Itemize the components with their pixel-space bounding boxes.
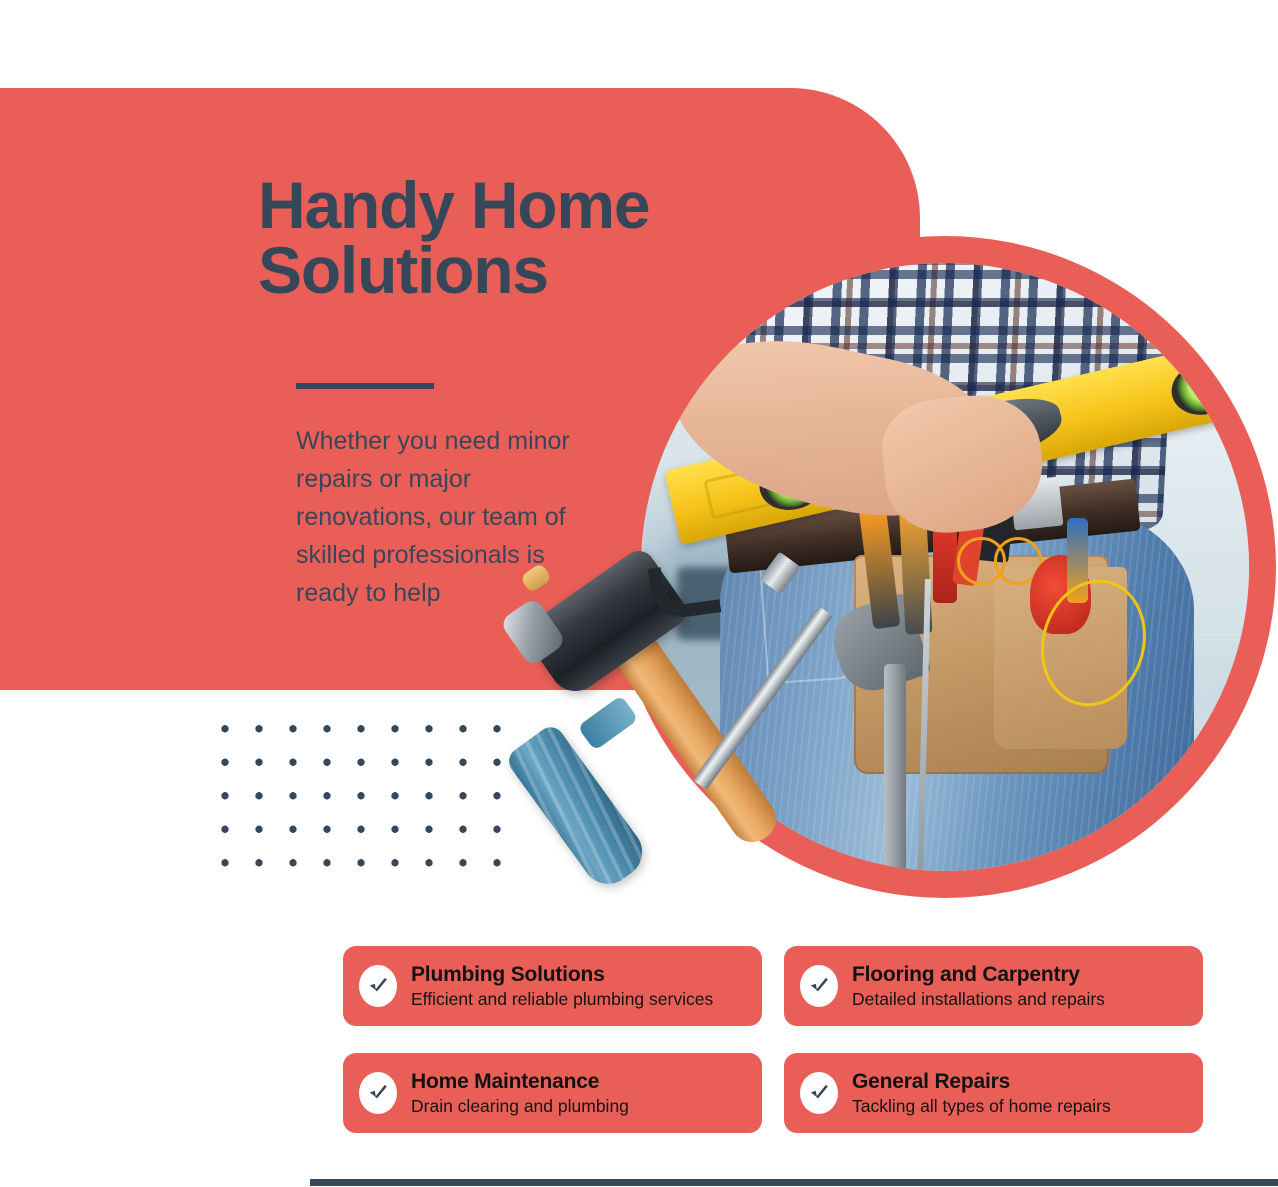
service-title: General Repairs	[852, 1070, 1111, 1094]
service-title: Flooring and Carpentry	[852, 963, 1105, 987]
footer-divider	[310, 1179, 1278, 1186]
service-title: Home Maintenance	[411, 1070, 629, 1094]
service-subtitle: Detailed installations and repairs	[852, 989, 1105, 1009]
title-divider	[296, 383, 434, 389]
service-card[interactable]: General Repairs Tackling all types of ho…	[784, 1053, 1203, 1133]
check-icon	[359, 1072, 397, 1114]
service-card-text: Home Maintenance Drain clearing and plum…	[411, 1070, 629, 1116]
screwdriver-icon	[495, 548, 815, 893]
pry-bar-icon	[884, 664, 906, 871]
screwdriver-tip	[759, 552, 800, 595]
services-grid: Plumbing Solutions Efficient and reliabl…	[343, 946, 1203, 1133]
service-subtitle: Tackling all types of home repairs	[852, 1096, 1111, 1116]
poster-canvas: Handy Home Solutions Whether you need mi…	[0, 0, 1278, 1187]
tools-illustration	[495, 548, 815, 893]
service-title: Plumbing Solutions	[411, 963, 713, 987]
dot-grid-decoration	[208, 712, 520, 888]
service-subtitle: Efficient and reliable plumbing services	[411, 989, 713, 1009]
check-icon	[359, 965, 397, 1007]
spirit-level-vial-2	[1167, 356, 1243, 421]
check-icon	[800, 1072, 838, 1114]
page-title: Handy Home Solutions	[258, 173, 728, 304]
screwdriver-collar	[577, 695, 638, 751]
service-card[interactable]: Plumbing Solutions Efficient and reliabl…	[343, 946, 762, 1026]
service-subtitle: Drain clearing and plumbing	[411, 1096, 629, 1116]
check-icon	[800, 965, 838, 1007]
screwdriver-shaft	[693, 606, 833, 790]
service-card-text: General Repairs Tackling all types of ho…	[852, 1070, 1111, 1116]
screwdriver-handle	[504, 722, 653, 894]
service-card[interactable]: Home Maintenance Drain clearing and plum…	[343, 1053, 762, 1133]
service-card-text: Plumbing Solutions Efficient and reliabl…	[411, 963, 713, 1009]
service-card-text: Flooring and Carpentry Detailed installa…	[852, 963, 1105, 1009]
service-card[interactable]: Flooring and Carpentry Detailed installa…	[784, 946, 1203, 1026]
